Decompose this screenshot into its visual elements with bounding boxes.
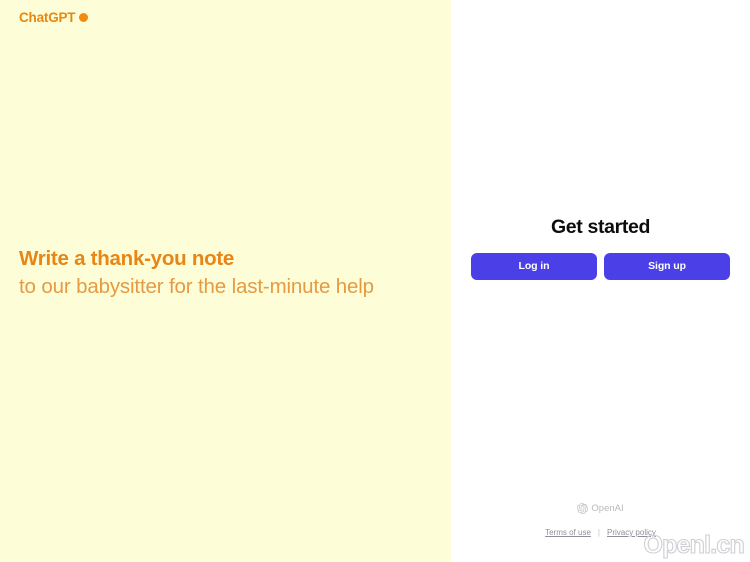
promo-headline-rest: to our babysitter for the last-minute he… bbox=[19, 273, 411, 302]
legal-separator: | bbox=[598, 527, 600, 538]
orange-dot-icon bbox=[79, 13, 88, 22]
promo-panel: ChatGPT Write a thank-you note to our ba… bbox=[0, 0, 451, 562]
chatgpt-wordmark: ChatGPT bbox=[19, 11, 75, 25]
auth-cta-group: Get started Log in Sign up bbox=[451, 215, 750, 280]
promo-suggestion: Write a thank-you note to our babysitter… bbox=[19, 244, 411, 302]
privacy-policy-link[interactable]: Privacy policy bbox=[607, 527, 656, 538]
legal-links: Terms of use | Privacy policy bbox=[545, 527, 656, 538]
openai-wordmark: OpenAI bbox=[591, 503, 623, 514]
auth-panel: Get started Log in Sign up OpenAI Terms … bbox=[451, 0, 750, 562]
chatgpt-welcome-screen: ChatGPT Write a thank-you note to our ba… bbox=[0, 0, 750, 562]
auth-button-row: Log in Sign up bbox=[471, 253, 730, 280]
openai-lockup: OpenAI bbox=[577, 503, 623, 514]
footer: OpenAI Terms of use | Privacy policy bbox=[451, 503, 750, 538]
terms-of-use-link[interactable]: Terms of use bbox=[545, 527, 591, 538]
log-in-button[interactable]: Log in bbox=[471, 253, 597, 280]
promo-headline-bold: Write a thank-you note bbox=[19, 244, 411, 273]
openai-blossom-icon bbox=[577, 503, 588, 514]
sign-up-button[interactable]: Sign up bbox=[604, 253, 730, 280]
chatgpt-brand-lockup[interactable]: ChatGPT bbox=[19, 11, 88, 25]
page-title: Get started bbox=[551, 215, 650, 239]
